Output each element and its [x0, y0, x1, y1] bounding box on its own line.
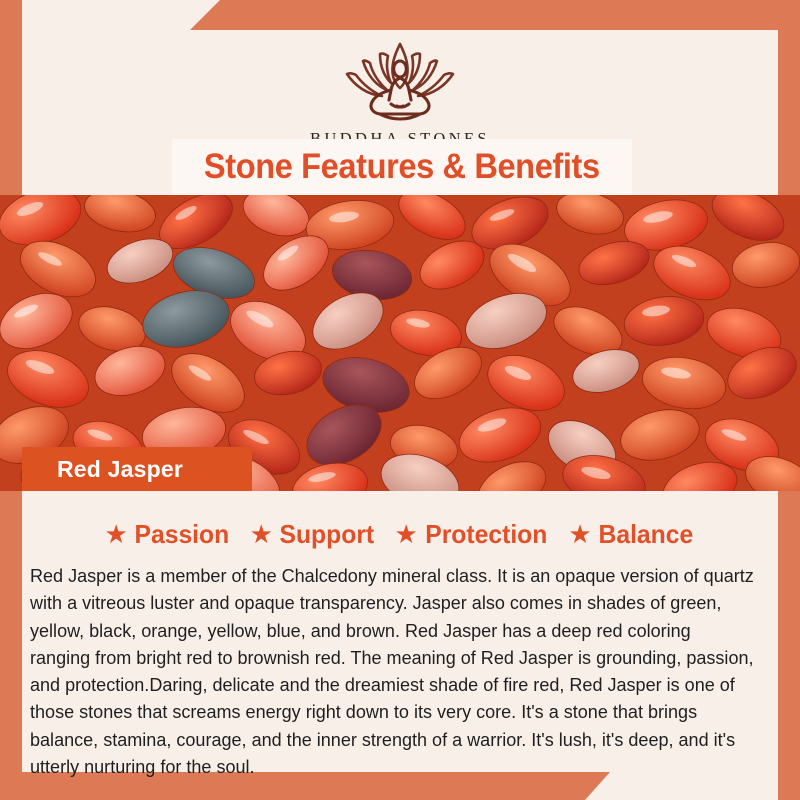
title-banner: Stone Features & Benefits	[172, 139, 632, 195]
feature-label: Support	[279, 519, 374, 550]
feature-list: ★ Passion ★ Support ★ Protection ★ Balan…	[22, 512, 778, 556]
stone-photo: Red Jasper	[0, 195, 800, 491]
feature-label: Protection	[425, 519, 547, 550]
feature-label: Passion	[134, 519, 229, 550]
infographic-page: BUDDHA STONES Stone Features & Benefits	[0, 0, 800, 800]
feature-label: Balance	[598, 519, 693, 550]
brand-logo: BUDDHA STONES	[310, 34, 490, 149]
top-decorative-band	[0, 0, 800, 30]
stone-description: Red Jasper is a member of the Chalcedony…	[30, 562, 756, 780]
stone-name-banner: Red Jasper	[22, 447, 252, 491]
feature-item-protection: ★ Protection	[395, 519, 551, 550]
star-icon: ★	[105, 521, 128, 547]
page-title: Stone Features & Benefits	[204, 147, 600, 187]
lotus-meditation-icon	[325, 34, 475, 126]
star-icon: ★	[568, 521, 591, 547]
feature-item-support: ★ Support	[250, 519, 377, 550]
star-icon: ★	[250, 521, 273, 547]
star-icon: ★	[395, 521, 418, 547]
feature-item-passion: ★ Passion	[105, 519, 232, 550]
feature-item-balance: ★ Balance	[568, 519, 695, 550]
stone-name: Red Jasper	[57, 456, 183, 483]
